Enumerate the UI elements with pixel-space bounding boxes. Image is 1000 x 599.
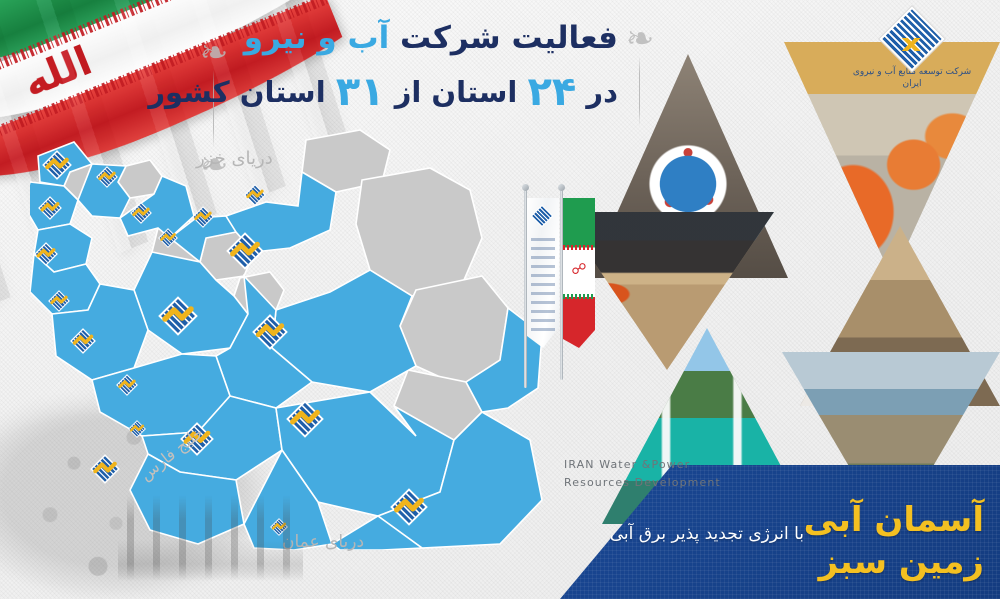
iran-province-map: دریای خزر دریای عمان خلیج فارس [30, 120, 550, 550]
total-province-count: ۳۱ [336, 69, 385, 115]
company-diamond-logo-icon [879, 6, 944, 71]
headline-line-1: فعالیت شرکت آب و نیرو [218, 18, 618, 60]
banner-kufic-top [563, 245, 595, 250]
headline-post-words: استان کشور [148, 75, 325, 109]
slogan-subtitle-white: با انرژی تجدید پذیر برق آبی [610, 524, 804, 544]
english-caption-line-2: Resources Development [564, 474, 721, 492]
headline-block: فعالیت شرکت آب و نیرو در ۲۴ استان از ۳۱ … [218, 18, 618, 122]
slogan-gold-block: آسمان آبی زمین سبز [804, 500, 984, 583]
headline-line-2: در ۲۴ استان از ۳۱ استان کشور [218, 62, 618, 122]
company-logo-block: شرکت توسعه منابع آب و نیروی ایران [842, 16, 982, 90]
map-svg [30, 120, 550, 550]
headline-prefix: فعالیت شرکت [400, 20, 618, 56]
vintage-workers-photo [118, 495, 303, 581]
company-banner-flag [527, 198, 559, 348]
flag-pole-national [560, 190, 563, 380]
banner-company-text [531, 232, 555, 332]
headline-mid-words: استان از [395, 75, 518, 109]
headline-in-word: در [586, 75, 618, 109]
english-caption-block: IRAN Water &Power Resources Development [564, 456, 721, 491]
iran-national-banner-flag: ☍ [563, 198, 595, 348]
caspian-sea-label: دریای خزر [196, 148, 273, 169]
slogan-gold-line-2: زمین سبز [804, 542, 984, 583]
english-caption-line-1: IRAN Water &Power [564, 456, 721, 474]
flag-pole-company [524, 190, 527, 388]
infographic-poster: الله ❧❧ ❧ فعالیت شرکت آب و نیرو در ۲۴ اس… [0, 0, 1000, 599]
active-province-count: ۲۴ [527, 69, 576, 115]
banner-kufic-bottom [563, 294, 595, 299]
map-provinces [30, 130, 542, 550]
banner-diamond-logo-icon [531, 205, 554, 228]
banner-iran-emblem-icon: ☍ [563, 260, 595, 278]
headline-accent-company: آب و نیرو [244, 20, 389, 56]
flag-poles-group: ☍ [512, 190, 602, 395]
slogan-gold-line-1: آسمان آبی [804, 500, 984, 541]
